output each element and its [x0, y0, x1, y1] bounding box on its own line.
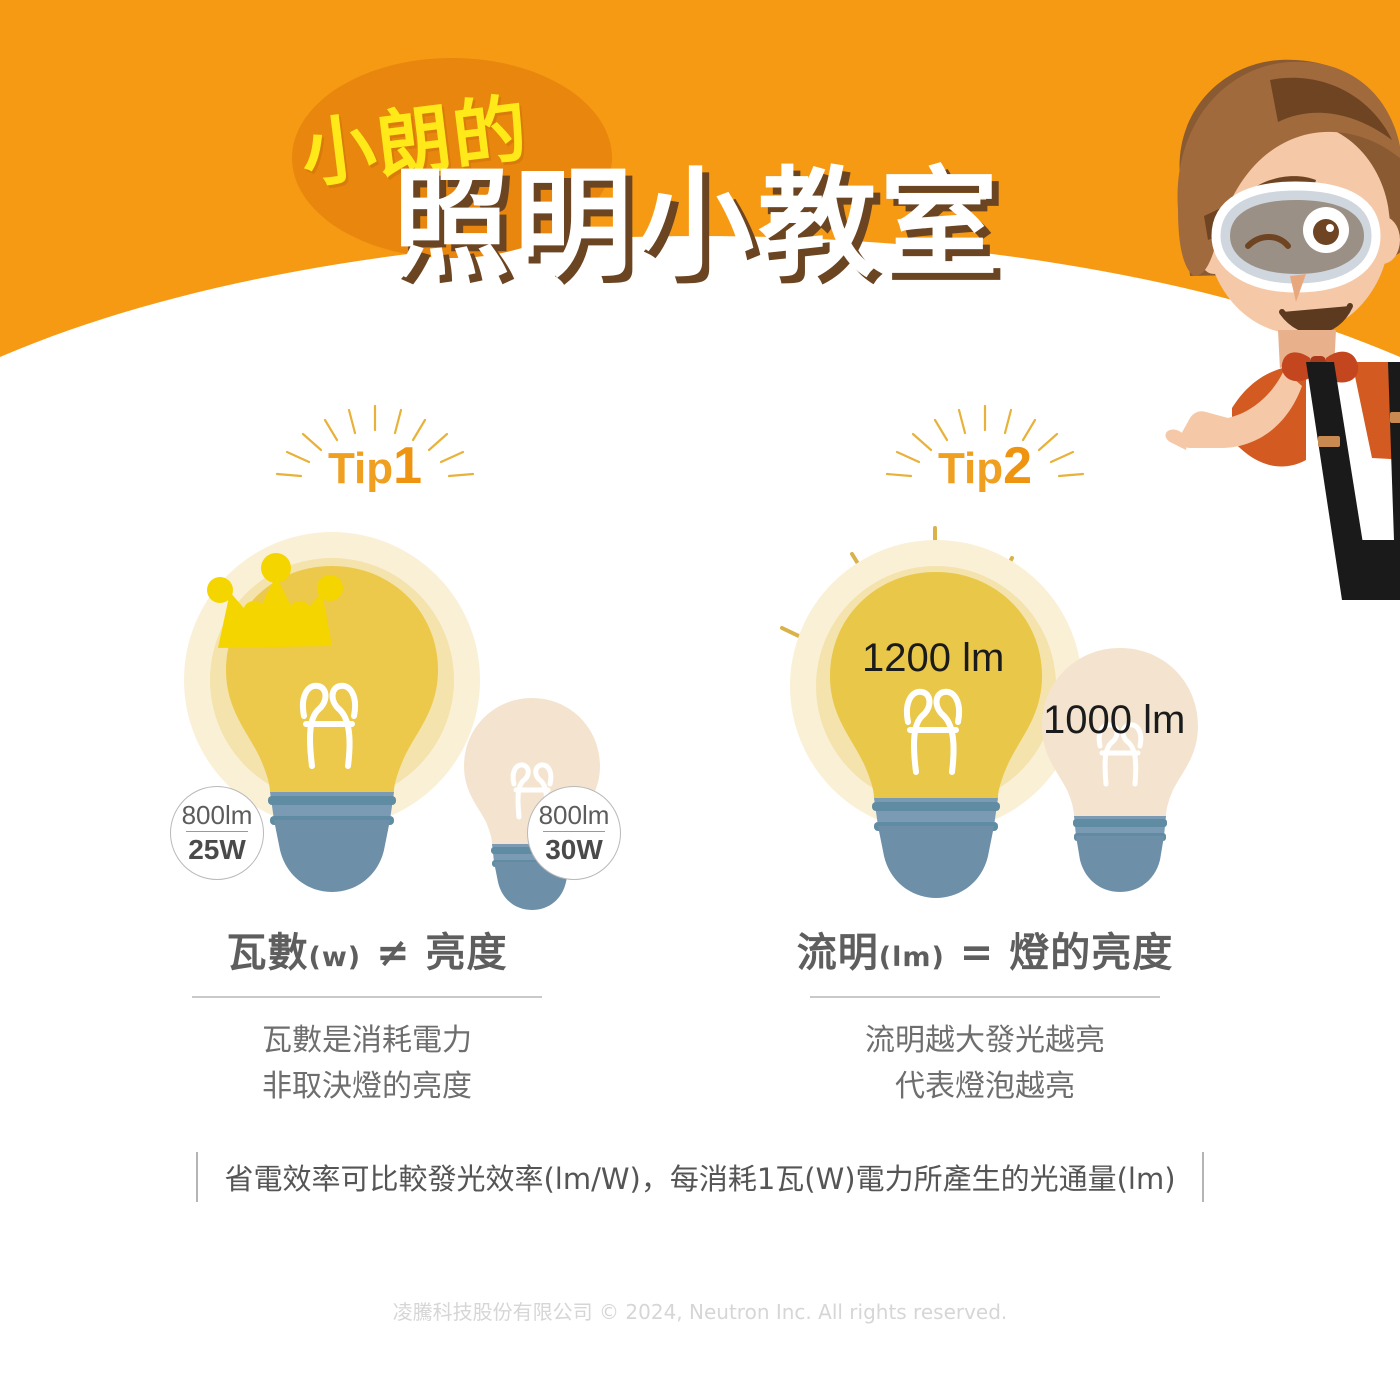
- crown-ball-4-icon: [289, 601, 311, 623]
- tip-1-heading: 瓦數(w) ≠ 亮度: [127, 920, 607, 978]
- tip-1-heading-target: 亮度: [426, 930, 508, 976]
- badge-right-watts: 30W: [545, 832, 603, 864]
- tip-2-subtext-line2: 代表燈泡越亮: [745, 1064, 1225, 1111]
- lumen-label-1000: 1000 lm: [1043, 698, 1185, 743]
- page-title: 照明小教室: [392, 128, 1002, 299]
- bowtie-left-icon: [1282, 352, 1310, 381]
- crown-ball-2-icon: [243, 601, 265, 623]
- tip-2-number: 2: [1003, 437, 1032, 495]
- lumen-label-1200: 1200 lm: [862, 636, 1004, 681]
- crown-ball-3-icon: [261, 553, 291, 583]
- tip-1-text-block: 瓦數(w) ≠ 亮度 瓦數是消耗電力 非取決燈的亮度: [127, 920, 607, 1111]
- mascot-illustration: [1120, 40, 1400, 600]
- badge-left-lumens: 800lm: [182, 802, 253, 831]
- tip-1-word: Tip: [328, 444, 393, 493]
- tip-2-heading-term: 流明: [797, 930, 879, 976]
- suspender-clip-icon: [1318, 436, 1340, 447]
- tip-2-heading: 流明(lm) = 燈的亮度: [745, 920, 1225, 978]
- tip-1-subtext-line2: 非取決燈的亮度: [127, 1064, 607, 1111]
- tip-2-heading-unit: (lm): [879, 942, 945, 973]
- tip-1-subtext: 瓦數是消耗電力 非取決燈的亮度: [127, 1018, 607, 1111]
- eye-glint-icon: [1326, 224, 1334, 232]
- tip-2-word: Tip: [938, 444, 1003, 493]
- tip-2-badge: Tip2: [855, 400, 1115, 510]
- suspender-clip-2-icon: [1390, 412, 1400, 423]
- tip-2-divider: [810, 996, 1160, 998]
- tip-1-heading-operator: ≠: [376, 930, 411, 976]
- crown-ball-1-icon: [207, 577, 233, 603]
- socket3-band-1-icon: [1073, 819, 1167, 827]
- tip-1-subtext-line1: 瓦數是消耗電力: [127, 1018, 607, 1065]
- socket2-band-1-icon: [872, 802, 1000, 811]
- badge-left-watts: 25W: [188, 832, 246, 864]
- badge-800lm-30w: 800lm 30W: [527, 786, 621, 880]
- infographic-page: 小朗的 照明小教室: [0, 0, 1400, 1400]
- tip-1-heading-term: 瓦數: [226, 930, 308, 976]
- badge-right-lumens: 800lm: [539, 802, 610, 831]
- tip-1-number: 1: [393, 437, 422, 495]
- tip-1-heading-unit: (w): [308, 942, 361, 973]
- socket-base-icon: [274, 820, 390, 892]
- socket-band-1-icon: [268, 796, 396, 805]
- crown-ball-5-icon: [317, 575, 343, 601]
- tip-2-label: Tip2: [855, 436, 1115, 496]
- socket2-base-icon: [878, 826, 994, 898]
- tip-2-subtext: 流明越大發光越亮 代表燈泡越亮: [745, 1018, 1225, 1111]
- tip-2-heading-target: 燈的亮度: [1009, 930, 1173, 976]
- tip-1-label: Tip1: [245, 436, 505, 496]
- footnote: 省電效率可比較發光效率(lm/W)，每消耗1瓦(W)電力所產生的光通量(lm): [0, 1152, 1400, 1202]
- pupil-icon: [1313, 219, 1339, 245]
- tip-2-text-block: 流明(lm) = 燈的亮度 流明越大發光越亮 代表燈泡越亮: [745, 920, 1225, 1111]
- tip-2-subtext-line1: 流明越大發光越亮: [745, 1018, 1225, 1065]
- tip-2-heading-operator: =: [960, 930, 995, 976]
- badge-800lm-25w: 800lm 25W: [170, 786, 264, 880]
- copyright-text: 凌騰科技股份有限公司 © 2024, Neutron Inc. All righ…: [0, 1296, 1400, 1325]
- footnote-text: 省電效率可比較發光效率(lm/W)，每消耗1瓦(W)電力所產生的光通量(lm): [196, 1152, 1203, 1202]
- tip-1-divider: [192, 996, 542, 998]
- socket3-base-icon: [1076, 836, 1164, 892]
- tip-1-badge: Tip1: [245, 400, 505, 510]
